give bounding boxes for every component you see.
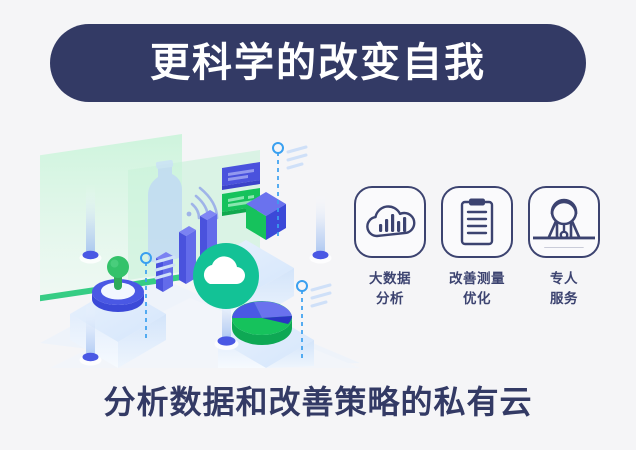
feature-item-support[interactable]: 专人 服务 bbox=[526, 186, 602, 336]
header-banner: 更科学的改变自我 bbox=[50, 24, 586, 102]
feature-label-line1: 专人 bbox=[550, 270, 578, 290]
isometric-illustration bbox=[40, 128, 360, 368]
feature-icon-box bbox=[441, 186, 513, 258]
page-title: 更科学的改变自我 bbox=[150, 43, 486, 83]
cloud-bar-chart-icon bbox=[364, 200, 416, 244]
feature-item-big-data[interactable]: 大数据 分析 bbox=[352, 186, 428, 336]
feature-label: 大数据 分析 bbox=[369, 270, 411, 309]
pie-chart-3d bbox=[232, 301, 292, 345]
feature-icon-box bbox=[354, 186, 426, 258]
feature-list: 大数据 分析 改善测量 优化 bbox=[352, 186, 602, 336]
feature-label-line2: 服务 bbox=[550, 290, 578, 310]
feature-label-line1: 改善测量 bbox=[449, 270, 505, 290]
feature-label-line2: 分析 bbox=[369, 290, 411, 310]
feature-label-line1: 大数据 bbox=[369, 270, 411, 290]
feature-label: 专人 服务 bbox=[550, 270, 578, 309]
feature-icon-box bbox=[528, 186, 600, 258]
feature-label-line2: 优化 bbox=[449, 290, 505, 310]
gradient-pin-post-3 bbox=[310, 192, 332, 264]
illustration-svg bbox=[40, 128, 360, 368]
footer-tagline: 分析数据和改善策略的私有云 bbox=[0, 386, 636, 418]
feature-item-measurement[interactable]: 改善测量 优化 bbox=[439, 186, 515, 336]
clipboard-icon bbox=[457, 197, 497, 247]
feature-label: 改善测量 优化 bbox=[449, 270, 505, 309]
support-agent-icon bbox=[530, 188, 598, 256]
promo-banner-page: 更科学的改变自我 bbox=[0, 0, 636, 450]
